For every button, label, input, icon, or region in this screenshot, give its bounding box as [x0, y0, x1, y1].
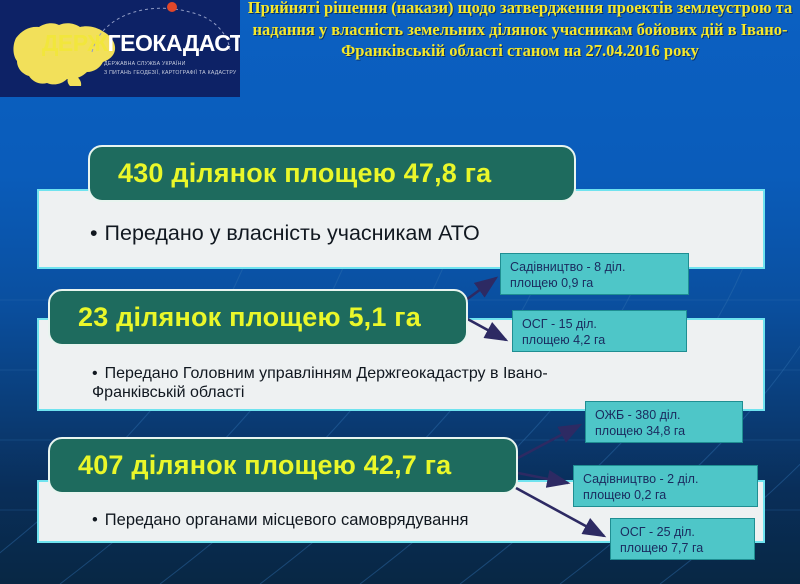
slide-title: Прийняті рішення (накази) щодо затвердже… — [244, 0, 796, 62]
callout-sadivnytstvo-2: Садівництво - 2 діл. площею 0,2 га — [573, 465, 758, 507]
logo-wordmark: ДЕРЖГЕОКАДАСТР — [42, 32, 238, 55]
logo-subtitle: ДЕРЖАВНА СЛУЖБА УКРАЇНИ З ПИТАНЬ ГЕОДЕЗІ… — [104, 60, 236, 78]
headline-box-3: 407 ділянок площею 42,7 га — [48, 437, 518, 494]
logo-subtitle-line-1: ДЕРЖАВНА СЛУЖБА УКРАЇНИ — [104, 60, 236, 69]
bullet-text-1: Передано у власність учасникам АТО — [90, 222, 480, 245]
callout-osg-25: ОСГ - 25 діл. площею 7,7 га — [610, 518, 755, 560]
callout-ozhb-380: ОЖБ - 380 діл. площею 34,8 га — [585, 401, 743, 443]
logo-word-derzh: ДЕРЖ — [42, 30, 108, 56]
callout-osg-15: ОСГ - 15 діл. площею 4,2 га — [512, 310, 687, 352]
callout-sadivnytstvo-8: Садівництво - 8 діл. площею 0,9 га — [500, 253, 689, 295]
slide-canvas: ДЕРЖГЕОКАДАСТР ДЕРЖАВНА СЛУЖБА УКРАЇНИ З… — [0, 0, 800, 584]
logo-subtitle-line-2: З ПИТАНЬ ГЕОДЕЗІЇ, КАРТОГРАФІЇ ТА КАДАСТ… — [104, 69, 236, 78]
bullet-text-2: Передано Головним управлінням Держгеокад… — [92, 364, 692, 402]
arrow-to-ozhb — [516, 425, 580, 459]
logo-word-geokadastr: ГЕОКАДАСТР — [108, 30, 240, 56]
arrow-to-sad8 — [466, 278, 496, 300]
bullet-text-3: Передано органами місцевого самоврядуван… — [92, 509, 468, 532]
headline-box-2: 23 ділянок площею 5,1 га — [48, 289, 468, 346]
logo-panel: ДЕРЖГЕОКАДАСТР ДЕРЖАВНА СЛУЖБА УКРАЇНИ З… — [0, 0, 240, 97]
headline-box-1: 430 ділянок площею 47,8 га — [88, 145, 576, 202]
